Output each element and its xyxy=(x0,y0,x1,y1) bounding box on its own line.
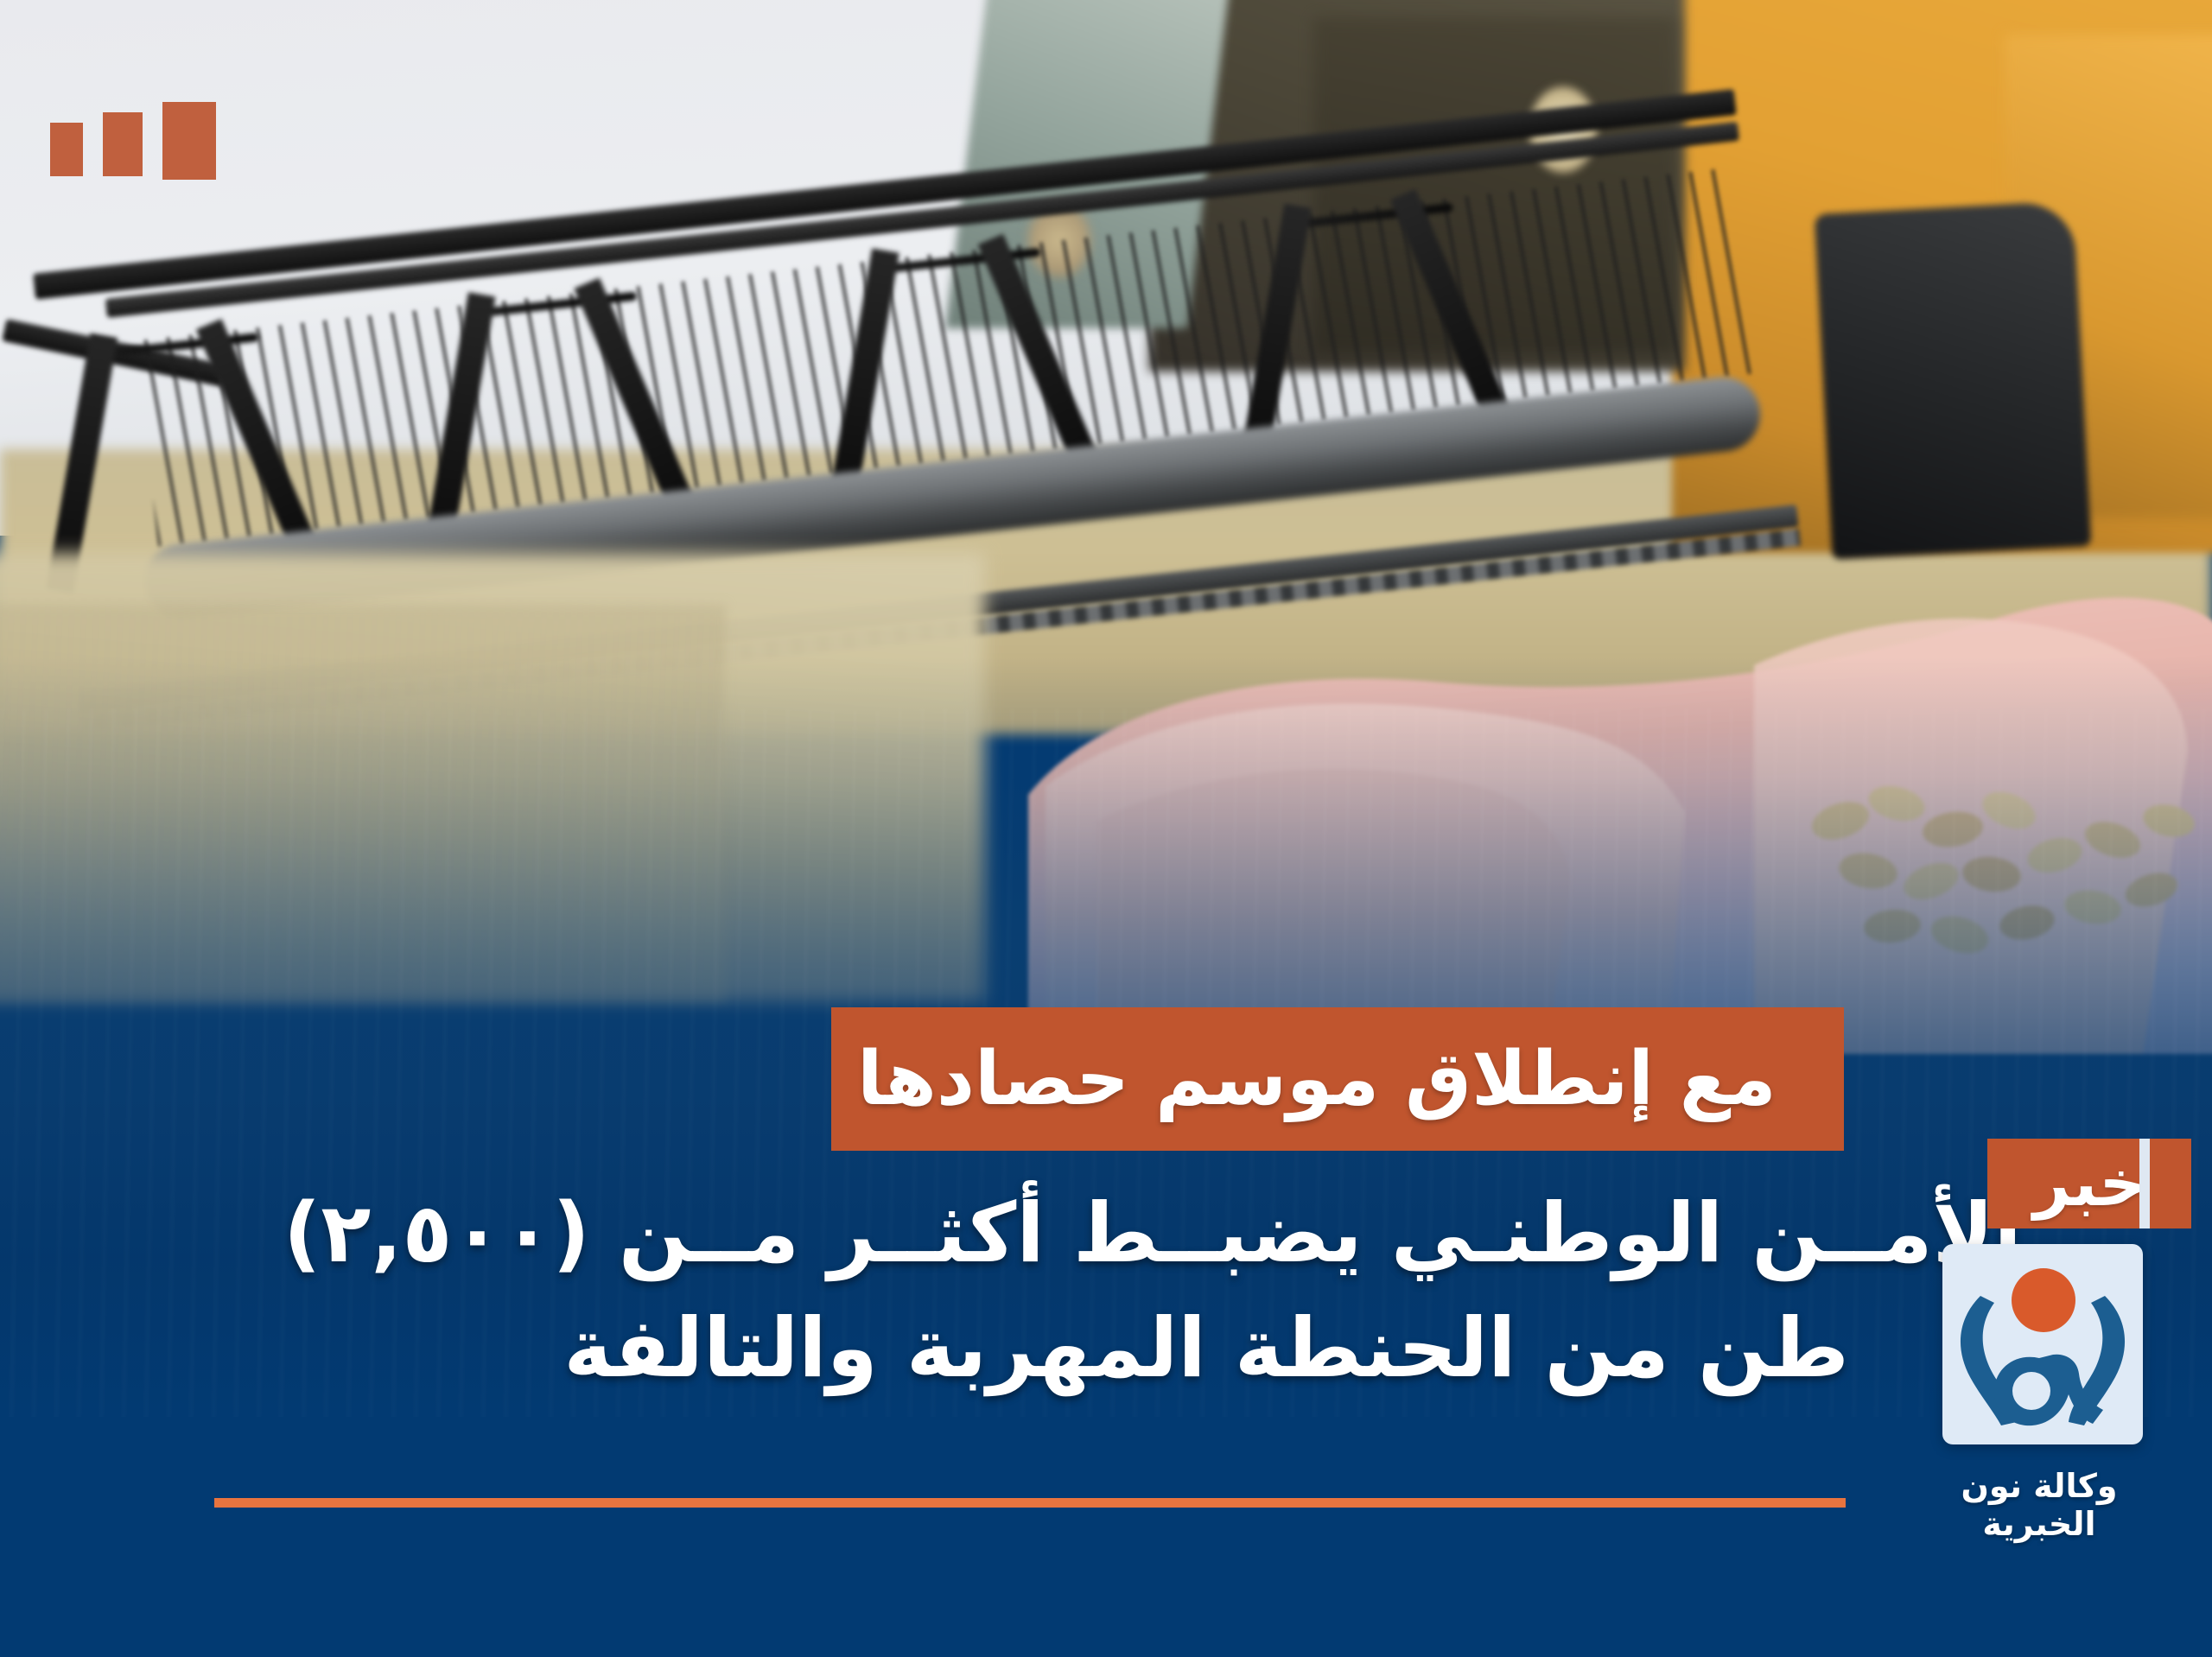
kicker-text: مع إنطلاق موسم حصادها xyxy=(857,1042,1777,1116)
background-photo xyxy=(0,0,2212,1657)
headline-line-1: الأمــن الوطنـي يضبــط أكثــر مــن (٢,٥٠… xyxy=(86,1177,2022,1292)
agency-name: وكالة نون الخبرية xyxy=(1910,1467,2169,1543)
brand-bar-3-icon xyxy=(50,123,83,176)
orange-divider xyxy=(214,1498,1846,1508)
news-badge: خبر xyxy=(1987,1139,2191,1228)
news-card: مع إنطلاق موسم حصادها الأمــن الوطنـي يض… xyxy=(0,0,2212,1657)
agency-logo-tile xyxy=(1942,1244,2143,1444)
brand-bar-2-icon xyxy=(103,112,143,176)
combine-black-cover xyxy=(1815,200,2092,559)
news-badge-tick xyxy=(2139,1139,2150,1228)
brand-bar-1-icon xyxy=(162,102,216,180)
headline-line-2: طن من الحنطة المهربة والتالفة xyxy=(86,1292,1849,1406)
solid-navy-footer xyxy=(0,1417,2212,1657)
agency-logo-stack: خبر وكالة نون الخبرية xyxy=(1932,1139,2191,1228)
logo-noon-mark-icon xyxy=(1942,1244,2143,1444)
brand-bars-logo xyxy=(50,102,216,180)
headline-block: الأمــن الوطنـي يضبــط أكثــر مــن (٢,٥٠… xyxy=(86,1177,1849,1406)
news-badge-label: خبر xyxy=(2033,1152,2145,1216)
kicker-banner: مع إنطلاق موسم حصادها xyxy=(831,1007,1844,1151)
